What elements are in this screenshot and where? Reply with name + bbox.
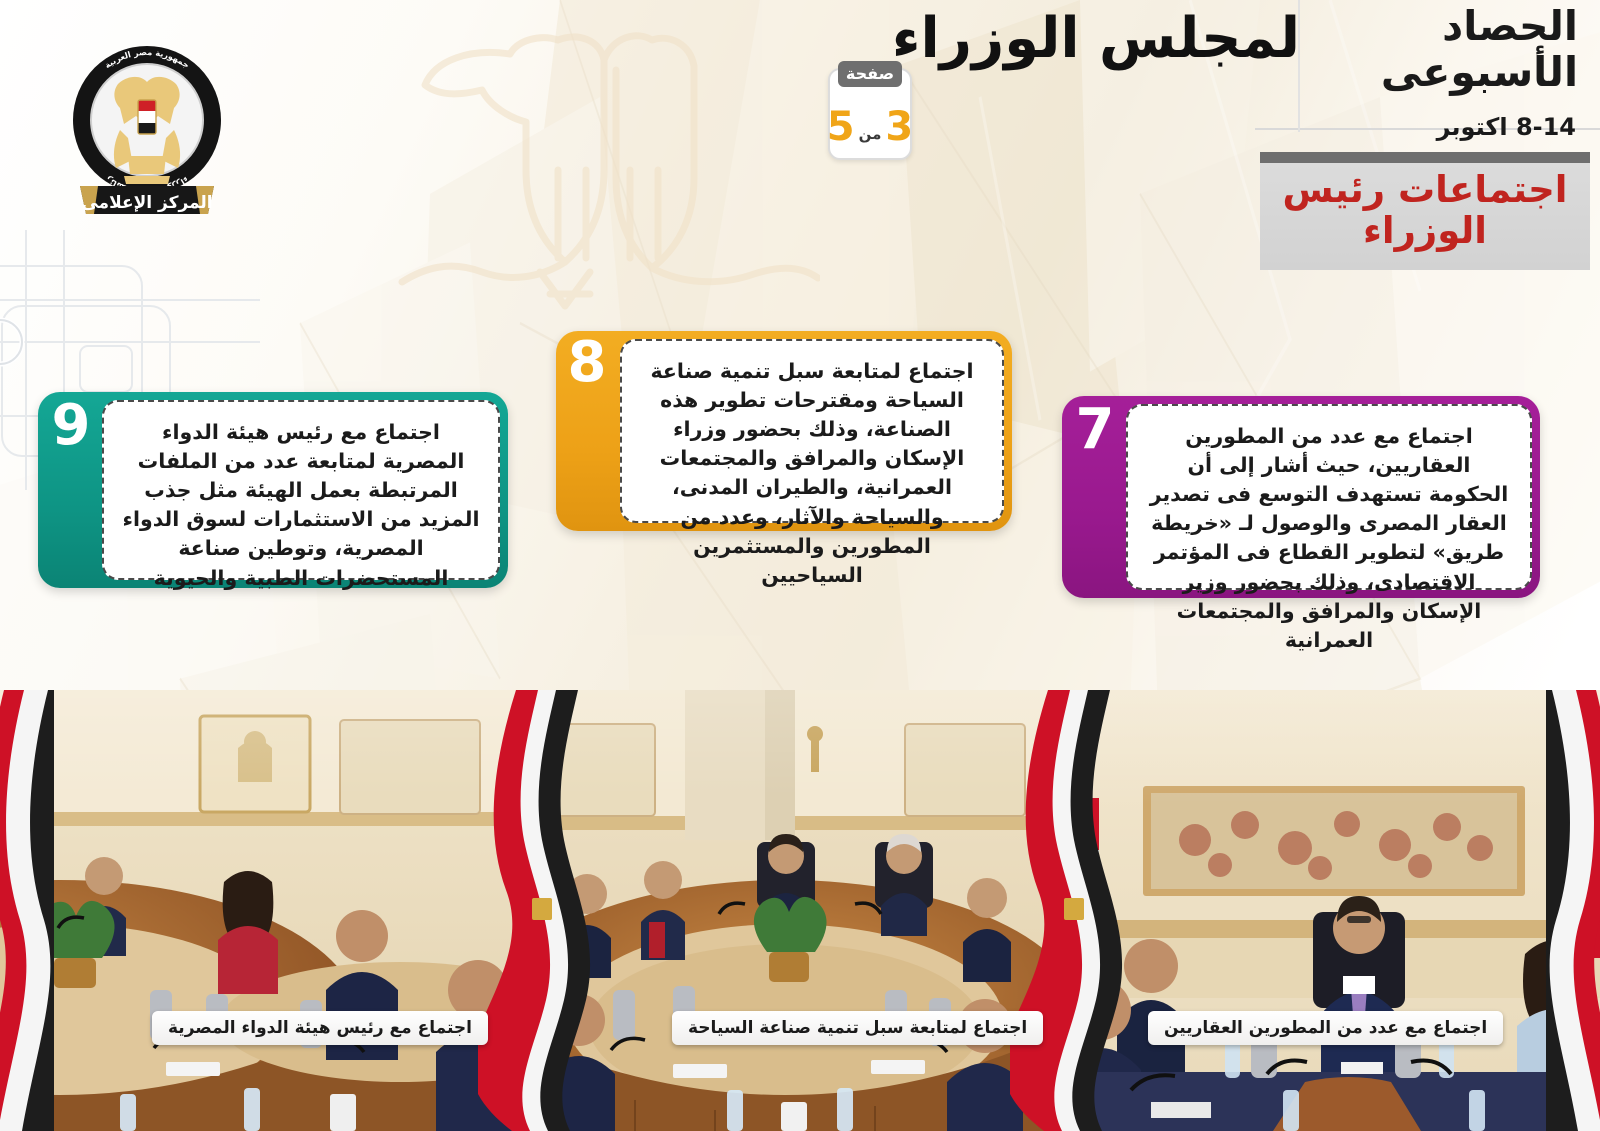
page-badge-current: 3 [885,107,913,147]
section-header-panel: اجتماعات رئيس الوزراء [1260,152,1590,270]
section-label-line-1: اجتماعات رئيس [1283,168,1568,211]
title-main: لمجلس الوزراء [892,6,1300,71]
item-card-7-body: اجتماع مع عدد من المطورين العقاريين، حيث… [1126,404,1532,590]
section-label-line-2: الوزراء [1363,209,1487,252]
photo-meeting-tourism [515,690,1055,1131]
item-card-9: 9 اجتماع مع رئيس هيئة الدواء المصرية لمت… [38,392,508,588]
photo-meeting-drug-authority [1055,690,1600,1131]
section-header-bar [1260,152,1590,163]
page-badge-numbers: 5 من 3 [830,98,910,156]
item-card-9-text: اجتماع مع رئيس هيئة الدواء المصرية لمتاب… [122,418,480,593]
photo-caption-1: اجتماع مع رئيس هيئة الدواء المصرية [152,1011,488,1045]
page-badge-label: صفحة [838,61,902,87]
page-badge-total: 5 [827,107,855,147]
title-line-1: الحصاد [1381,4,1578,50]
page-badge-separator: من [859,111,882,143]
photo-strip: اجتماع مع رئيس هيئة الدواء المصرية اجتما… [0,690,1600,1131]
section-header-label: اجتماعات رئيس الوزراء [1260,169,1590,252]
page-indicator-badge: صفحة 5 من 3 [828,68,912,160]
photo-meeting-real-estate-developers [0,690,515,1131]
item-card-8: 8 اجتماع لمتابعة سبل تنمية صناعة السياحة… [556,331,1012,531]
logo-ribbon-text: المركز الإعلامى [81,193,212,213]
cabinet-media-center-logo: جمهورية مصر العربية رئاسة مجلس الوزراء ا… [58,38,236,220]
date-range: 8-14 اكتوبر [1437,113,1576,141]
eagle-watermark-icon [390,10,820,330]
title-line-2: الأسبوعى [1381,50,1578,96]
item-card-9-body: اجتماع مع رئيس هيئة الدواء المصرية لمتاب… [102,400,500,580]
item-card-8-text: اجتماع لمتابعة سبل تنمية صناعة السياحة و… [640,357,984,590]
infographic-page: جمهورية مصر العربية رئاسة مجلس الوزراء ا… [0,0,1600,1131]
item-card-8-number: 8 [562,335,612,391]
item-card-7-number: 7 [1070,402,1120,458]
item-card-7: 7 اجتماع مع عدد من المطورين العقاريين، ح… [1062,396,1540,598]
photo-caption-3: اجتماع مع عدد من المطورين العقاريين [1148,1011,1503,1045]
item-card-9-number: 9 [46,398,96,454]
item-card-7-text: اجتماع مع عدد من المطورين العقاريين، حيث… [1146,422,1512,655]
page-title: الحصاد الأسبوعى [1381,4,1578,96]
item-card-8-body: اجتماع لمتابعة سبل تنمية صناعة السياحة و… [620,339,1004,523]
photo-caption-2: اجتماع لمتابعة سبل تنمية صناعة السياحة [672,1011,1043,1045]
